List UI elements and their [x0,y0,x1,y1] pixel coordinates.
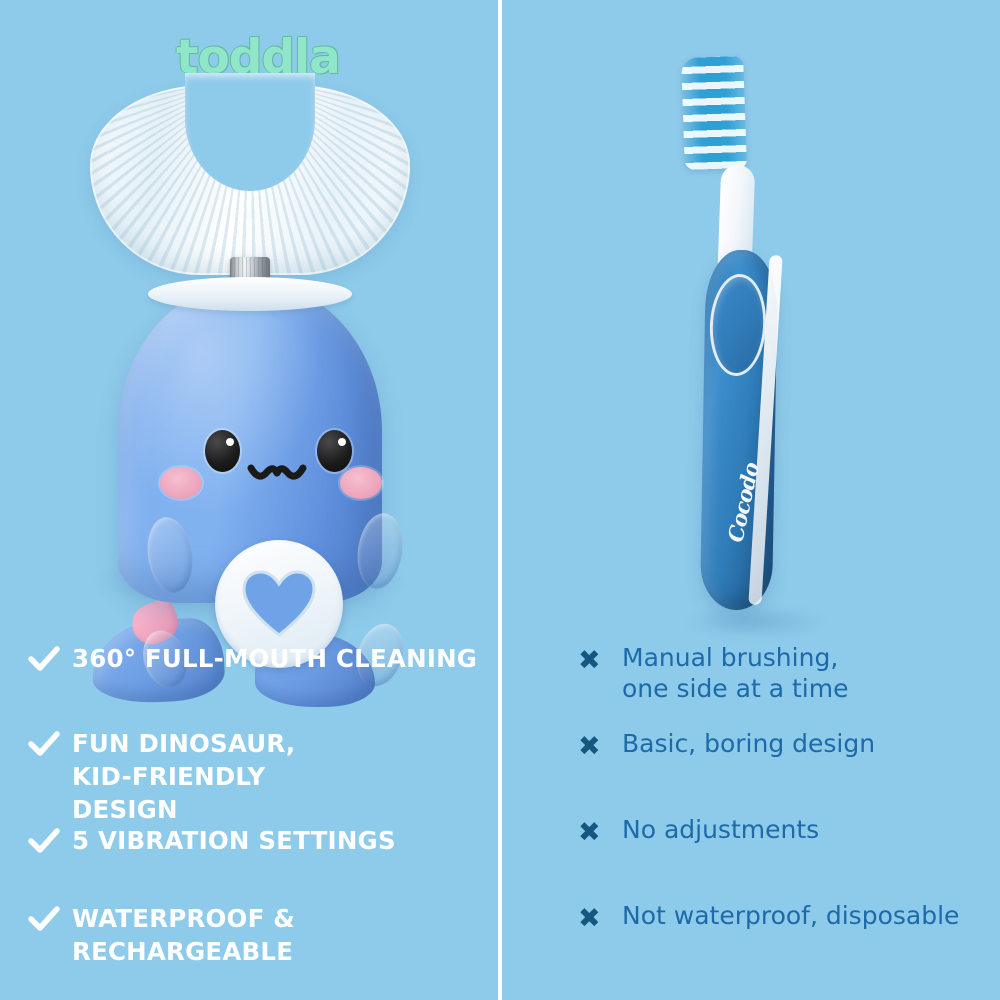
cross-icon: ✖ [578,905,622,932]
pro-item-label: 360° FULL-MOUTH CLEANING [72,642,488,675]
u-shaped-silicone-brush-head-icon [90,85,410,275]
right-product-image: Cocodo [655,45,835,645]
cheek-blush-icon [340,467,382,499]
pro-item-4: WATERPROOF & RECHARGEABLE [28,902,498,968]
con-item-label: Not waterproof, disposable [622,900,988,931]
left-product-image [40,85,460,625]
check-icon [28,642,72,672]
con-item-label: No adjustments [622,814,978,845]
heart-cutout [242,570,316,638]
check-icon [28,824,72,854]
product-shadow [685,605,825,639]
column-divider [498,0,502,1000]
cross-icon: ✖ [578,647,622,674]
pro-item-label: FUN DINOSAUR, KID-FRIENDLY DESIGN [72,727,358,826]
con-item-3: ✖ No adjustments [578,814,978,846]
toothbrush-bristles-icon [681,56,747,170]
pro-item-label: 5 VIBRATION SETTINGS [72,824,488,857]
device-top-cap [148,277,352,311]
con-item-2: ✖ Basic, boring design [578,728,978,760]
comparison-infographic: toddla [0,0,1000,1000]
pro-item-1: 360° FULL-MOUTH CLEANING [28,642,488,675]
eye-icon [317,430,352,472]
cross-icon: ✖ [578,733,622,760]
check-icon [28,727,72,757]
cheek-blush-icon [160,467,202,499]
con-item-4: ✖ Not waterproof, disposable [578,900,988,932]
smile-mouth-icon [247,463,307,485]
pro-item-3: 5 VIBRATION SETTINGS [28,824,488,857]
con-item-1: ✖ Manual brushing, one side at a time [578,642,978,704]
con-item-label: Manual brushing, one side at a time [622,642,978,704]
pro-item-2: FUN DINOSAUR, KID-FRIENDLY DESIGN [28,727,358,826]
cross-icon: ✖ [578,819,622,846]
con-item-label: Basic, boring design [622,728,978,759]
pro-item-label: WATERPROOF & RECHARGEABLE [72,902,498,968]
eye-icon [205,430,240,472]
check-icon [28,902,72,932]
